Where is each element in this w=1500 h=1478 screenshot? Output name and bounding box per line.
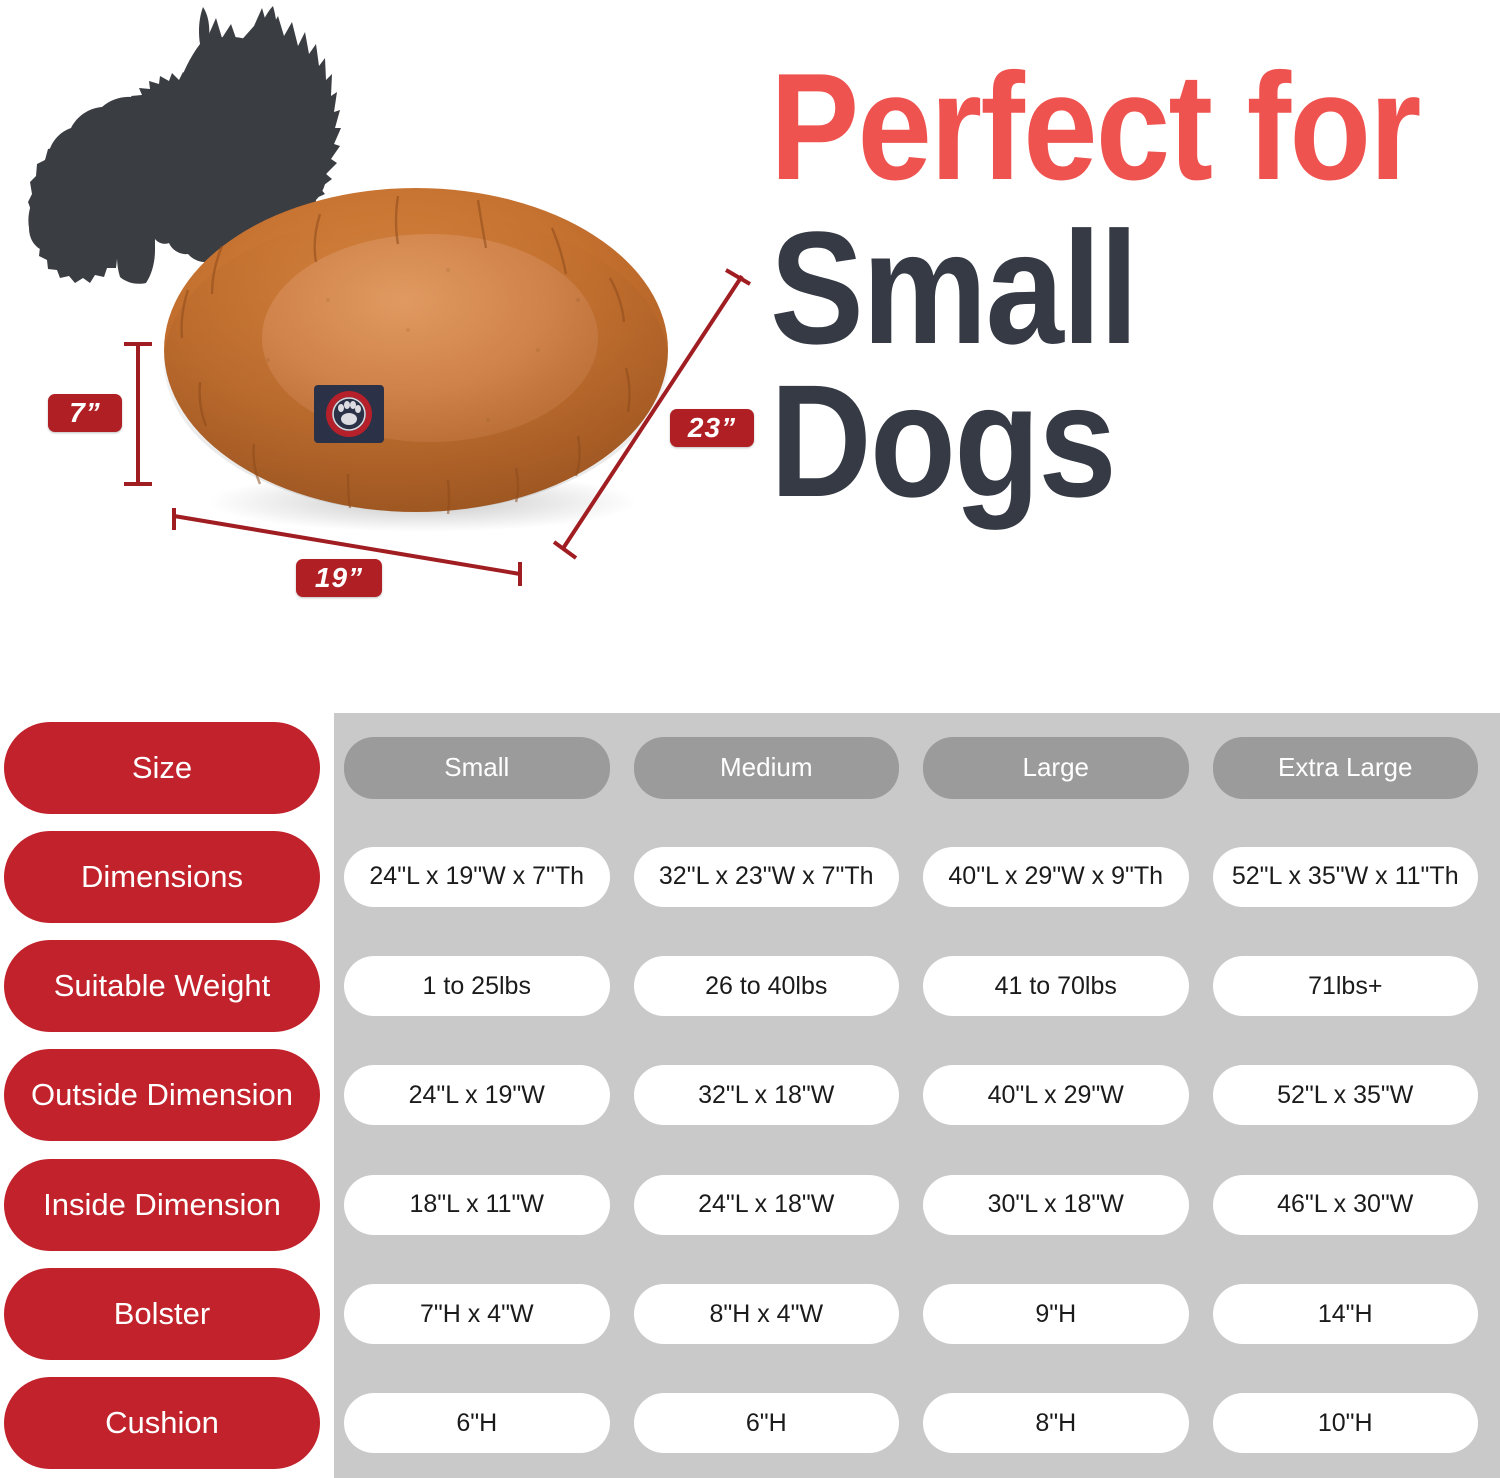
table-cell: 40"L x 29"W [923,1065,1189,1125]
table-cell: 30"L x 18"W [923,1175,1189,1235]
specification-table: SizeSmallMediumLargeExtra LargeDimension… [0,713,1500,1478]
callout-width: 19” [296,559,382,597]
table-cell: 71lbs+ [1213,956,1479,1016]
table-cell: 46"L x 30"W [1213,1175,1479,1235]
table-row: Outside Dimension24"L x 19"W32"L x 18"W4… [0,1041,1500,1150]
row-label: Cushion [4,1377,320,1469]
table-cell: 40"L x 29"W x 9"Th [923,847,1189,907]
row-cells: 24"L x 19"W32"L x 18"W40"L x 29"W52"L x … [334,1065,1500,1125]
table-cell: 1 to 25lbs [344,956,610,1016]
majestic-pet-brand-tag [314,385,384,443]
headline-line-3: Dogs [770,367,1404,514]
height-measure-line [118,338,158,490]
table-cell: 18"L x 11"W [344,1175,610,1235]
row-cells: 18"L x 11"W24"L x 18"W30"L x 18"W46"L x … [334,1175,1500,1235]
table-cell: 26 to 40lbs [634,956,900,1016]
table-cell: 24"L x 19"W [344,1065,610,1125]
hero-section: 7” 19” 23” Perfect for Small Dogs [0,0,1500,700]
table-cell: 41 to 70lbs [923,956,1189,1016]
table-row: Dimensions24"L x 19"W x 7"Th32"L x 23"W … [0,822,1500,931]
row-label: Bolster [4,1268,320,1360]
column-header-cell: Large [923,737,1189,799]
table-cell: 7"H x 4"W [344,1284,610,1344]
callout-depth: 23” [670,409,754,447]
table-cell: 24"L x 19"W x 7"Th [344,847,610,907]
table-cell: 8"H x 4"W [634,1284,900,1344]
table-cell: 14"H [1213,1284,1479,1344]
table-row: Cushion6"H6"H8"H10"H [0,1369,1500,1478]
headline-line-1: Perfect for [770,58,1404,198]
column-header-cell: Small [344,737,610,799]
headline: Perfect for Small Dogs [770,58,1490,514]
table-row: SizeSmallMediumLargeExtra Large [0,713,1500,822]
table-cell: 32"L x 18"W [634,1065,900,1125]
row-label: Suitable Weight [4,940,320,1032]
table-cell: 24"L x 18"W [634,1175,900,1235]
row-cells: 1 to 25lbs26 to 40lbs41 to 70lbs71lbs+ [334,956,1500,1016]
row-label: Outside Dimension [4,1049,320,1141]
table-cell: 52"L x 35"W [1213,1065,1479,1125]
row-cells: 6"H6"H8"H10"H [334,1393,1500,1453]
table-cell: 8"H [923,1393,1189,1453]
headline-line-2: Small [770,214,1404,361]
row-cells: 7"H x 4"W8"H x 4"W9"H14"H [334,1284,1500,1344]
table-cell: 52"L x 35"W x 11"Th [1213,847,1479,907]
table-cell: 10"H [1213,1393,1479,1453]
table-cell: 32"L x 23"W x 7"Th [634,847,900,907]
table-cell: 6"H [344,1393,610,1453]
row-cells: 24"L x 19"W x 7"Th32"L x 23"W x 7"Th40"L… [334,847,1500,907]
callout-height: 7” [48,394,122,432]
row-label: Size [4,722,320,814]
table-row: Inside Dimension18"L x 11"W24"L x 18"W30… [0,1150,1500,1259]
table-row: Suitable Weight1 to 25lbs26 to 40lbs41 t… [0,932,1500,1041]
table-row: Bolster7"H x 4"W8"H x 4"W9"H14"H [0,1259,1500,1368]
row-cells: SmallMediumLargeExtra Large [334,737,1500,799]
table-grid: SizeSmallMediumLargeExtra LargeDimension… [0,713,1500,1478]
table-cell: 9"H [923,1284,1189,1344]
row-label: Dimensions [4,831,320,923]
column-header-cell: Extra Large [1213,737,1479,799]
row-label: Inside Dimension [4,1159,320,1251]
column-header-cell: Medium [634,737,900,799]
table-cell: 6"H [634,1393,900,1453]
